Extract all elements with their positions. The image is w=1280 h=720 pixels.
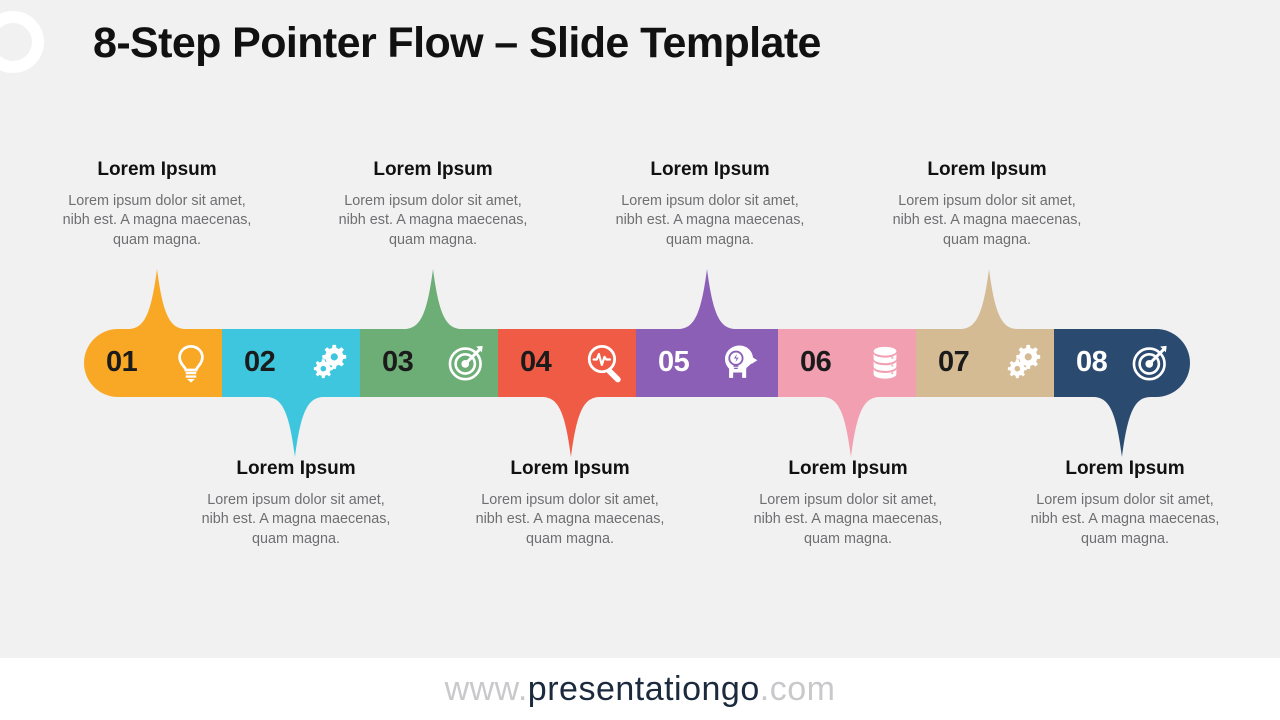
- step-bar-07[interactable]: 07: [916, 329, 1062, 397]
- step-caption-body: Lorem ipsum dolor sit amet, nibh est. A …: [610, 192, 810, 250]
- target-icon: [1130, 342, 1172, 384]
- step-pointer-08: [1093, 397, 1151, 457]
- step-bar-body: 06: [778, 329, 924, 397]
- step-number: 04: [520, 346, 551, 379]
- footer-bar: www.presentationgo.com: [0, 658, 1280, 720]
- footer-url-brand: presentationgo: [528, 670, 760, 708]
- step-bar-body: 03: [360, 329, 506, 397]
- step-bar-02[interactable]: 02: [222, 329, 368, 397]
- step-caption-03: Lorem Ipsum Lorem ipsum dolor sit amet, …: [333, 158, 533, 250]
- step-caption-body: Lorem ipsum dolor sit amet, nibh est. A …: [57, 192, 257, 250]
- step-caption-body: Lorem ipsum dolor sit amet, nibh est. A …: [748, 491, 948, 549]
- step-pointer-05: [678, 269, 736, 329]
- step-caption-body: Lorem ipsum dolor sit amet, nibh est. A …: [196, 491, 396, 549]
- step-caption-body: Lorem ipsum dolor sit amet, nibh est. A …: [887, 192, 1087, 250]
- step-bar-05[interactable]: 05: [636, 329, 778, 397]
- footer-url-prefix: www.: [445, 670, 528, 708]
- step-caption-title: Lorem Ipsum: [333, 158, 533, 181]
- step-caption-06: Lorem Ipsum Lorem ipsum dolor sit amet, …: [748, 457, 948, 549]
- magnifier-pulse-icon: [584, 342, 626, 384]
- database-icon: [864, 342, 906, 384]
- step-caption-04: Lorem Ipsum Lorem ipsum dolor sit amet, …: [470, 457, 670, 549]
- step-number: 05: [658, 346, 689, 379]
- step-caption-title: Lorem Ipsum: [748, 457, 948, 480]
- step-caption-07: Lorem Ipsum Lorem ipsum dolor sit amet, …: [887, 158, 1087, 250]
- step-number: 08: [1076, 346, 1107, 379]
- step-caption-body: Lorem ipsum dolor sit amet, nibh est. A …: [333, 192, 533, 250]
- step-caption-01: Lorem Ipsum Lorem ipsum dolor sit amet, …: [57, 158, 257, 250]
- presentationgo-logo-icon: [0, 8, 78, 76]
- step-caption-title: Lorem Ipsum: [57, 158, 257, 181]
- step-caption-02: Lorem Ipsum Lorem ipsum dolor sit amet, …: [196, 457, 396, 549]
- lightbulb-icon: [170, 342, 212, 384]
- step-caption-08: Lorem Ipsum Lorem ipsum dolor sit amet, …: [1025, 457, 1225, 549]
- step-number: 01: [106, 346, 137, 379]
- step-caption-body: Lorem ipsum dolor sit amet, nibh est. A …: [470, 491, 670, 549]
- step-bar-body: 08: [1054, 329, 1190, 397]
- step-caption-title: Lorem Ipsum: [887, 158, 1087, 181]
- page-title: 8-Step Pointer Flow – Slide Template: [93, 19, 821, 68]
- step-bar-04[interactable]: 04: [498, 329, 644, 397]
- step-caption-title: Lorem Ipsum: [1025, 457, 1225, 480]
- head-idea-icon: [718, 342, 760, 384]
- step-bar-body: 07: [916, 329, 1062, 397]
- step-caption-title: Lorem Ipsum: [470, 457, 670, 480]
- gears-icon: [308, 342, 350, 384]
- step-number: 03: [382, 346, 413, 379]
- step-bar-body: 01: [84, 329, 230, 397]
- step-caption-title: Lorem Ipsum: [610, 158, 810, 181]
- step-bar-body: 02: [222, 329, 368, 397]
- slide-canvas: 8-Step Pointer Flow – Slide Template Lor…: [0, 0, 1280, 720]
- step-pointer-03: [404, 269, 462, 329]
- footer-url: www.presentationgo.com: [445, 670, 836, 709]
- step-number: 02: [244, 346, 275, 379]
- step-number: 07: [938, 346, 969, 379]
- step-bar-01[interactable]: 01: [84, 329, 230, 397]
- step-pointer-01: [128, 269, 186, 329]
- step-bar-06[interactable]: 06: [778, 329, 924, 397]
- step-pointer-02: [266, 397, 324, 457]
- step-caption-05: Lorem Ipsum Lorem ipsum dolor sit amet, …: [610, 158, 810, 250]
- step-pointer-07: [960, 269, 1018, 329]
- step-caption-title: Lorem Ipsum: [196, 457, 396, 480]
- step-bar-08[interactable]: 08: [1054, 329, 1190, 397]
- step-number: 06: [800, 346, 831, 379]
- target-icon: [446, 342, 488, 384]
- step-caption-body: Lorem ipsum dolor sit amet, nibh est. A …: [1025, 491, 1225, 549]
- step-pointer-06: [822, 397, 880, 457]
- step-bar-body: 04: [498, 329, 644, 397]
- gears-icon: [1002, 342, 1044, 384]
- step-pointer-04: [542, 397, 600, 457]
- step-bar-body: 05: [636, 329, 778, 397]
- step-bar-03[interactable]: 03: [360, 329, 506, 397]
- footer-url-suffix: .com: [760, 670, 836, 708]
